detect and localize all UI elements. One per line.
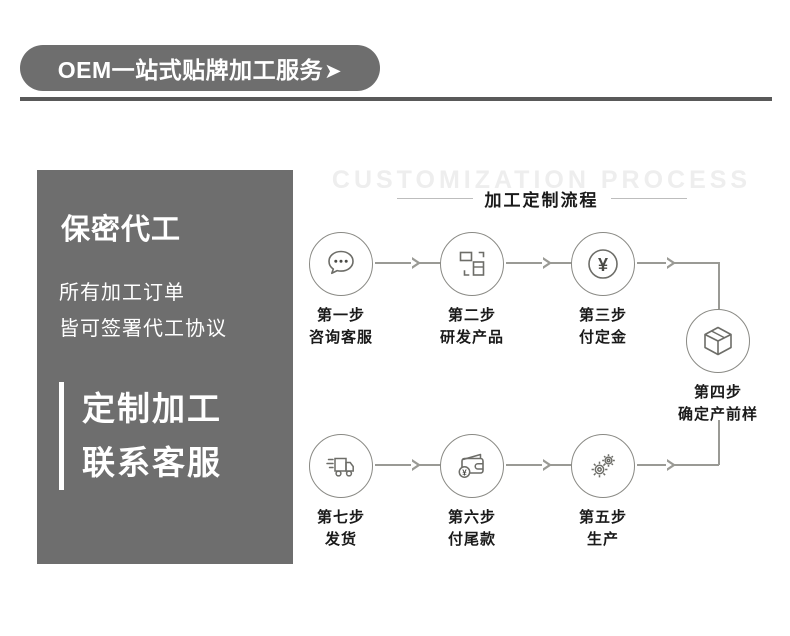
chat-bubble-icon: [324, 247, 358, 281]
panel-subtext-line-1: 所有加工订单: [59, 275, 227, 311]
flow-step-4[interactable]: 第四步 确定产前样: [658, 309, 778, 426]
panel-cta-accent-bar: [59, 382, 64, 490]
delivery-truck-icon: [322, 447, 360, 485]
flow-step-1-circle: [309, 232, 373, 296]
header-banner: OEM一站式贴牌加工服务➤: [20, 45, 380, 91]
panel-heading: 保密代工: [61, 206, 181, 248]
confidential-oem-panel: 保密代工 所有加工订单 皆可签署代工协议 定制加工 联系客服: [37, 170, 293, 564]
arrow-step5-step4-icon: [667, 459, 676, 471]
flow-step-7-label: 发货: [281, 529, 401, 551]
gears-icon: [585, 448, 621, 484]
panel-cta-line-1: 定制加工: [82, 382, 222, 436]
flow-step-7[interactable]: 第七步 发货: [281, 434, 401, 551]
flow-title: 加工定制流程: [473, 186, 611, 211]
flow-title-row: 加工定制流程: [293, 186, 790, 211]
flow-step-6-step: 第六步: [412, 507, 532, 529]
flow-step-3-circle: ¥: [571, 232, 635, 296]
arrow-step1-step2-icon: [412, 257, 421, 269]
flow-step-5-circle: [571, 434, 635, 498]
flow-step-6-label: 付尾款: [412, 529, 532, 551]
flow-step-4-circle: [686, 309, 750, 373]
flow-step-5[interactable]: 第五步 生产: [543, 434, 663, 551]
svg-text:¥: ¥: [598, 255, 608, 275]
flow-step-1-step: 第一步: [281, 305, 401, 327]
flow-step-6[interactable]: ¥ 第六步 付尾款: [412, 434, 532, 551]
flow-step-2-step: 第二步: [412, 305, 532, 327]
flow-step-3-step: 第三步: [543, 305, 663, 327]
flow-step-1-label: 咨询客服: [281, 327, 401, 349]
connector-step3-step4: [637, 262, 719, 264]
package-box-icon: [700, 323, 736, 359]
product-layout-icon: [455, 247, 489, 281]
panel-cta: 定制加工 联系客服: [59, 382, 222, 490]
flow-step-2[interactable]: 第二步 研发产品: [412, 232, 532, 349]
flow-step-3[interactable]: ¥ 第三步 付定金: [543, 232, 663, 349]
arrow-step3-step4-icon: [667, 257, 676, 269]
connector-step5-step4: [637, 464, 719, 466]
flow-step-4-step: 第四步: [658, 382, 778, 404]
chevron-right-icon: ➤: [324, 60, 342, 83]
panel-cta-line-2: 联系客服: [82, 436, 222, 490]
connector-step4-to-row2: [718, 420, 720, 465]
title-rule-left: [397, 198, 473, 199]
arrow-step6-step5-icon: [543, 459, 552, 471]
flow-step-7-step: 第七步: [281, 507, 401, 529]
flow-step-3-label: 付定金: [543, 327, 663, 349]
customization-process-flow: CUSTOMIZATION PROCESS 加工定制流程 第一步 咨询客服: [293, 150, 790, 580]
header-divider: [20, 97, 772, 101]
arrow-step7-step6-icon: [412, 459, 421, 471]
header-title: OEM一站式贴牌加工服务➤: [58, 51, 343, 85]
title-rule-right: [611, 198, 687, 199]
panel-cta-lines: 定制加工 联系客服: [82, 382, 222, 490]
arrow-step2-step3-icon: [543, 257, 552, 269]
connector-row1-to-step4: [718, 262, 720, 309]
panel-subtext: 所有加工订单 皆可签署代工协议: [59, 275, 227, 347]
yen-coin-icon: ¥: [583, 244, 623, 284]
svg-text:¥: ¥: [462, 468, 467, 477]
flow-step-6-circle: ¥: [440, 434, 504, 498]
header-title-label: OEM一站式贴牌加工服务: [58, 57, 323, 83]
flow-step-7-circle: [309, 434, 373, 498]
flow-step-2-circle: [440, 232, 504, 296]
flow-step-5-label: 生产: [543, 529, 663, 551]
flow-step-2-label: 研发产品: [412, 327, 532, 349]
wallet-yen-icon: ¥: [453, 447, 491, 485]
panel-subtext-line-2: 皆可签署代工协议: [59, 311, 227, 347]
flow-step-1[interactable]: 第一步 咨询客服: [281, 232, 401, 349]
flow-step-5-step: 第五步: [543, 507, 663, 529]
